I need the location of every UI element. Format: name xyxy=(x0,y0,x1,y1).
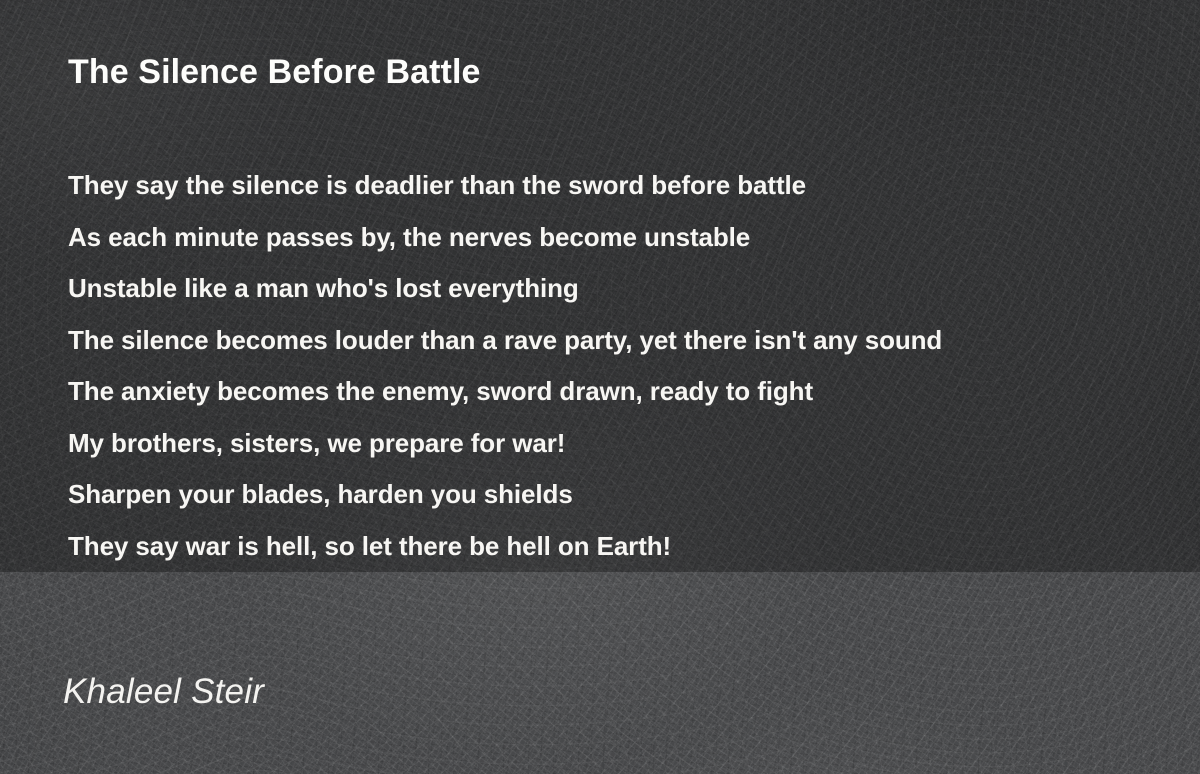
poem-image-card: The Silence Before Battle They say the s… xyxy=(0,0,1200,774)
poem-body: They say the silence is deadlier than th… xyxy=(68,160,1188,572)
poem-line: They say war is hell, so let there be he… xyxy=(68,521,1188,573)
poem-line: Sharpen your blades, harden you shields xyxy=(68,469,1188,521)
poem-content: The Silence Before Battle They say the s… xyxy=(0,0,1200,774)
poem-author: Khaleel Steir xyxy=(63,672,264,712)
poem-line: They say the silence is deadlier than th… xyxy=(68,160,1188,212)
poem-title: The Silence Before Battle xyxy=(68,53,481,92)
poem-line: The anxiety becomes the enemy, sword dra… xyxy=(68,366,1188,418)
poem-line: My brothers, sisters, we prepare for war… xyxy=(68,418,1188,470)
poem-line: The silence becomes louder than a rave p… xyxy=(68,315,1188,367)
poem-line: Unstable like a man who's lost everythin… xyxy=(68,263,1188,315)
poem-line: As each minute passes by, the nerves bec… xyxy=(68,212,1188,264)
